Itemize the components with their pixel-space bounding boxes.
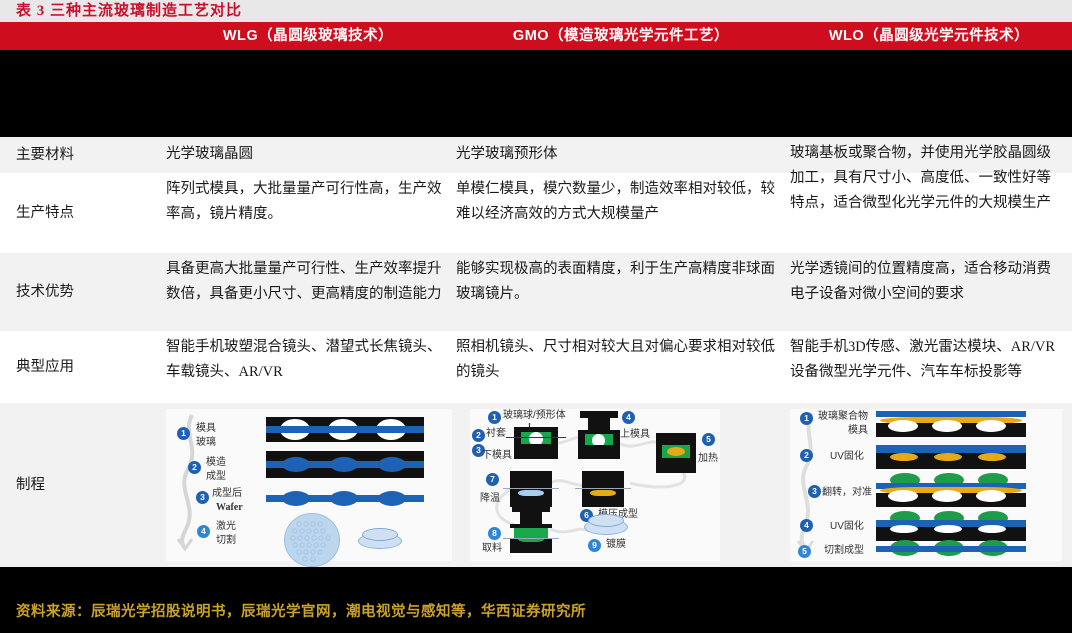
diagram-wlg-canvas: 1 模具 玻璃 2 模造 成型 bbox=[166, 409, 452, 561]
slide-page: 表 3 三种主流玻璃制造工艺对比 WLG（晶圆级玻璃技术） GMO（模造玻璃光学… bbox=[0, 0, 1072, 633]
step-number: 7 bbox=[486, 473, 499, 486]
row-label-production-features: 生产特点 bbox=[16, 173, 166, 253]
step-label-glass: 玻璃 bbox=[196, 437, 216, 449]
mold-assembly-1 bbox=[514, 427, 558, 459]
coated-lens-top-icon bbox=[588, 514, 624, 527]
wafer-disc-icon bbox=[284, 513, 340, 567]
page-title: 表 3 三种主流玻璃制造工艺对比 bbox=[16, 1, 242, 21]
table-row: 技术优势 具备更高大批量量产可行性、生产效率提升数倍，具备更小尺寸、更高精度的制… bbox=[0, 253, 1072, 331]
step-label-mold: 模具 bbox=[196, 423, 216, 435]
formed-lens bbox=[378, 491, 406, 506]
step-label-cooling: 降温 bbox=[480, 493, 500, 505]
step-label-wafer: Wafer bbox=[216, 502, 243, 514]
table-row-process: 制程 1 模具 玻璃 bbox=[0, 403, 1072, 567]
mold-cavity bbox=[890, 525, 918, 533]
formed-lens bbox=[282, 491, 310, 506]
cell-wlo-tech-advantage: 光学透镜间的位置精度高，适合移动消费电子设备对微小空间的要求 bbox=[790, 253, 1062, 307]
wafer-dot-grid-icon bbox=[285, 514, 339, 566]
mold-cavity bbox=[934, 525, 962, 533]
mold-cavity bbox=[888, 420, 918, 432]
cured-lens bbox=[890, 453, 918, 461]
step-number: 2 bbox=[188, 461, 201, 474]
header-cell-wlg: WLG（晶圆级玻璃技术） bbox=[160, 22, 456, 50]
diagram-wlo-process: 1 玻璃聚合物 模具 2 UV固化 bbox=[790, 403, 1062, 567]
step-number: 1 bbox=[488, 411, 501, 424]
step-number: 5 bbox=[702, 433, 715, 446]
mold-cavity bbox=[976, 420, 1006, 432]
step-label-heating: 加热 bbox=[698, 453, 718, 465]
cut-lens-top-icon bbox=[362, 528, 398, 541]
cell-gmo-tech-advantage: 能够实现极高的表面精度，利于生产高精度非球面玻璃镜片。 bbox=[456, 253, 782, 307]
cell-wlg-main-material: 光学玻璃晶圆 bbox=[166, 137, 452, 167]
step-number: 8 bbox=[488, 527, 501, 540]
step-label-uv-cure-1: UV固化 bbox=[830, 451, 864, 463]
step-label-flip-align: 翻转，对准 bbox=[822, 487, 872, 499]
flow-arrow-wlo-icon bbox=[792, 411, 826, 559]
step-label-coating: 镀膜 bbox=[606, 539, 626, 551]
mold-cavity bbox=[978, 525, 1006, 533]
row-label-tech-advantage: 技术优势 bbox=[16, 253, 166, 331]
mold-assembly-press bbox=[582, 471, 624, 507]
table-header-bar: WLG（晶圆级玻璃技术） GMO（模造玻璃光学元件工艺） WLO（晶圆级光学元件… bbox=[0, 22, 1072, 50]
step-label-cutting: 切割 bbox=[216, 535, 236, 547]
mold-cavity bbox=[888, 490, 918, 502]
mold-assembly-unload bbox=[510, 505, 552, 553]
mold-assembly-2 bbox=[578, 411, 620, 459]
step-number: 9 bbox=[588, 539, 601, 552]
mold-cavity bbox=[976, 490, 1006, 502]
step-number: 2 bbox=[800, 449, 813, 462]
black-spacer bbox=[0, 50, 1072, 137]
step-label-upper-mold: 上模具 bbox=[620, 429, 650, 441]
substrate-layer bbox=[876, 546, 1026, 552]
formed-lens bbox=[330, 457, 358, 472]
step-label-unload: 取料 bbox=[482, 543, 502, 555]
diagram-gmo-canvas: 1 玻璃球/预形体 2 衬套 3 下模具 bbox=[470, 409, 720, 561]
step-label-lower-mold: 下模具 bbox=[482, 450, 512, 462]
cell-gmo-main-material: 光学玻璃预形体 bbox=[456, 137, 782, 167]
step-number: 4 bbox=[622, 411, 635, 424]
step-label-after-forming: 成型后 bbox=[212, 488, 242, 500]
step-number: 4 bbox=[197, 525, 210, 538]
step-number: 5 bbox=[798, 545, 811, 558]
row-label-typical-application: 典型应用 bbox=[16, 331, 166, 403]
step-label-sleeve: 衬套 bbox=[486, 428, 506, 440]
cell-gmo-typical-application: 照相机镜头、尺寸相对较大且对偏心要求相对较低的镜头 bbox=[456, 331, 782, 385]
cell-wlg-typical-application: 智能手机玻塑混合镜头、潜望式长焦镜头、车载镜头、AR/VR bbox=[166, 331, 452, 385]
row-label-process: 制程 bbox=[16, 403, 166, 567]
step-label-mold: 模具 bbox=[848, 425, 868, 437]
row-label-main-material: 主要材料 bbox=[16, 137, 166, 173]
mold-cavity bbox=[932, 490, 962, 502]
header-cell-wlo: WLO（晶圆级光学元件技术） bbox=[786, 22, 1072, 50]
cured-lens bbox=[978, 453, 1006, 461]
formed-lens bbox=[330, 491, 358, 506]
step-number: 1 bbox=[177, 427, 190, 440]
mold-assembly-heat bbox=[656, 433, 696, 473]
diagram-wlg-process: 1 模具 玻璃 2 模造 成型 bbox=[166, 403, 452, 567]
step-label-forming: 成型 bbox=[206, 471, 226, 483]
formed-lens bbox=[282, 457, 310, 472]
step-number: 1 bbox=[800, 412, 813, 425]
step-number: 2 bbox=[472, 429, 485, 442]
cell-wlo-material-and-features: 玻璃基板或聚合物，并使用光学胶晶圆级加工，具有尺寸小、高度低、一致性好等特点，适… bbox=[790, 141, 1062, 253]
header-cell-gmo: GMO（模造玻璃光学元件工艺） bbox=[456, 22, 786, 50]
step-label-molding: 模造 bbox=[206, 457, 226, 469]
cell-wlg-tech-advantage: 具备更高大批量量产可行性、生产效率提升数倍，具备更小尺寸、更高精度的制造能力 bbox=[166, 253, 452, 307]
source-note: 资料来源：辰瑞光学招股说明书，辰瑞光学官网，潮电视觉与感知等，华西证券研究所 bbox=[16, 600, 586, 621]
mold-assembly-cool bbox=[510, 471, 552, 507]
comparison-table: 主要材料 光学玻璃晶圆 光学玻璃预形体 生产特点 阵列式模具，大批量量产可行性高… bbox=[0, 137, 1072, 567]
step-number: 3 bbox=[808, 485, 821, 498]
step-label-uv-cure-2: UV固化 bbox=[830, 521, 864, 533]
footer-band: 资料来源：辰瑞光学招股说明书，辰瑞光学官网，潮电视觉与感知等，华西证券研究所 bbox=[0, 567, 1072, 633]
step-label-glass-preform: 玻璃球/预形体 bbox=[503, 410, 566, 422]
step-number: 3 bbox=[196, 491, 209, 504]
substrate-layer bbox=[876, 445, 1026, 453]
step-label-glass-polymer: 玻璃聚合物 bbox=[818, 411, 868, 423]
step-number: 4 bbox=[800, 519, 813, 532]
step-label-dicing: 切割成型 bbox=[824, 545, 864, 557]
diagram-wlo-canvas: 1 玻璃聚合物 模具 2 UV固化 bbox=[790, 409, 1062, 561]
header-cell-blank bbox=[0, 22, 160, 50]
mold-cavity bbox=[932, 420, 962, 432]
glass-layer-top bbox=[266, 426, 424, 433]
cell-wlg-production-features: 阵列式模具，大批量量产可行性高，生产效率高，镜片精度。 bbox=[166, 173, 452, 227]
table-row: 典型应用 智能手机玻塑混合镜头、潜望式长焦镜头、车载镜头、AR/VR 照相机镜头… bbox=[0, 331, 1072, 403]
cell-gmo-production-features: 单模仁模具，模穴数量少，制造效率相对较低，较难以经济高效的方式大规模量产 bbox=[456, 173, 782, 227]
cured-lens bbox=[934, 453, 962, 461]
formed-lens bbox=[378, 457, 406, 472]
step-label-laser: 激光 bbox=[216, 521, 236, 533]
diagram-gmo-process: 1 玻璃球/预形体 2 衬套 3 下模具 bbox=[456, 403, 782, 567]
cell-wlo-typical-application: 智能手机3D传感、激光雷达模块、AR/VR设备微型光学元件、汽车车标投影等 bbox=[790, 331, 1062, 385]
